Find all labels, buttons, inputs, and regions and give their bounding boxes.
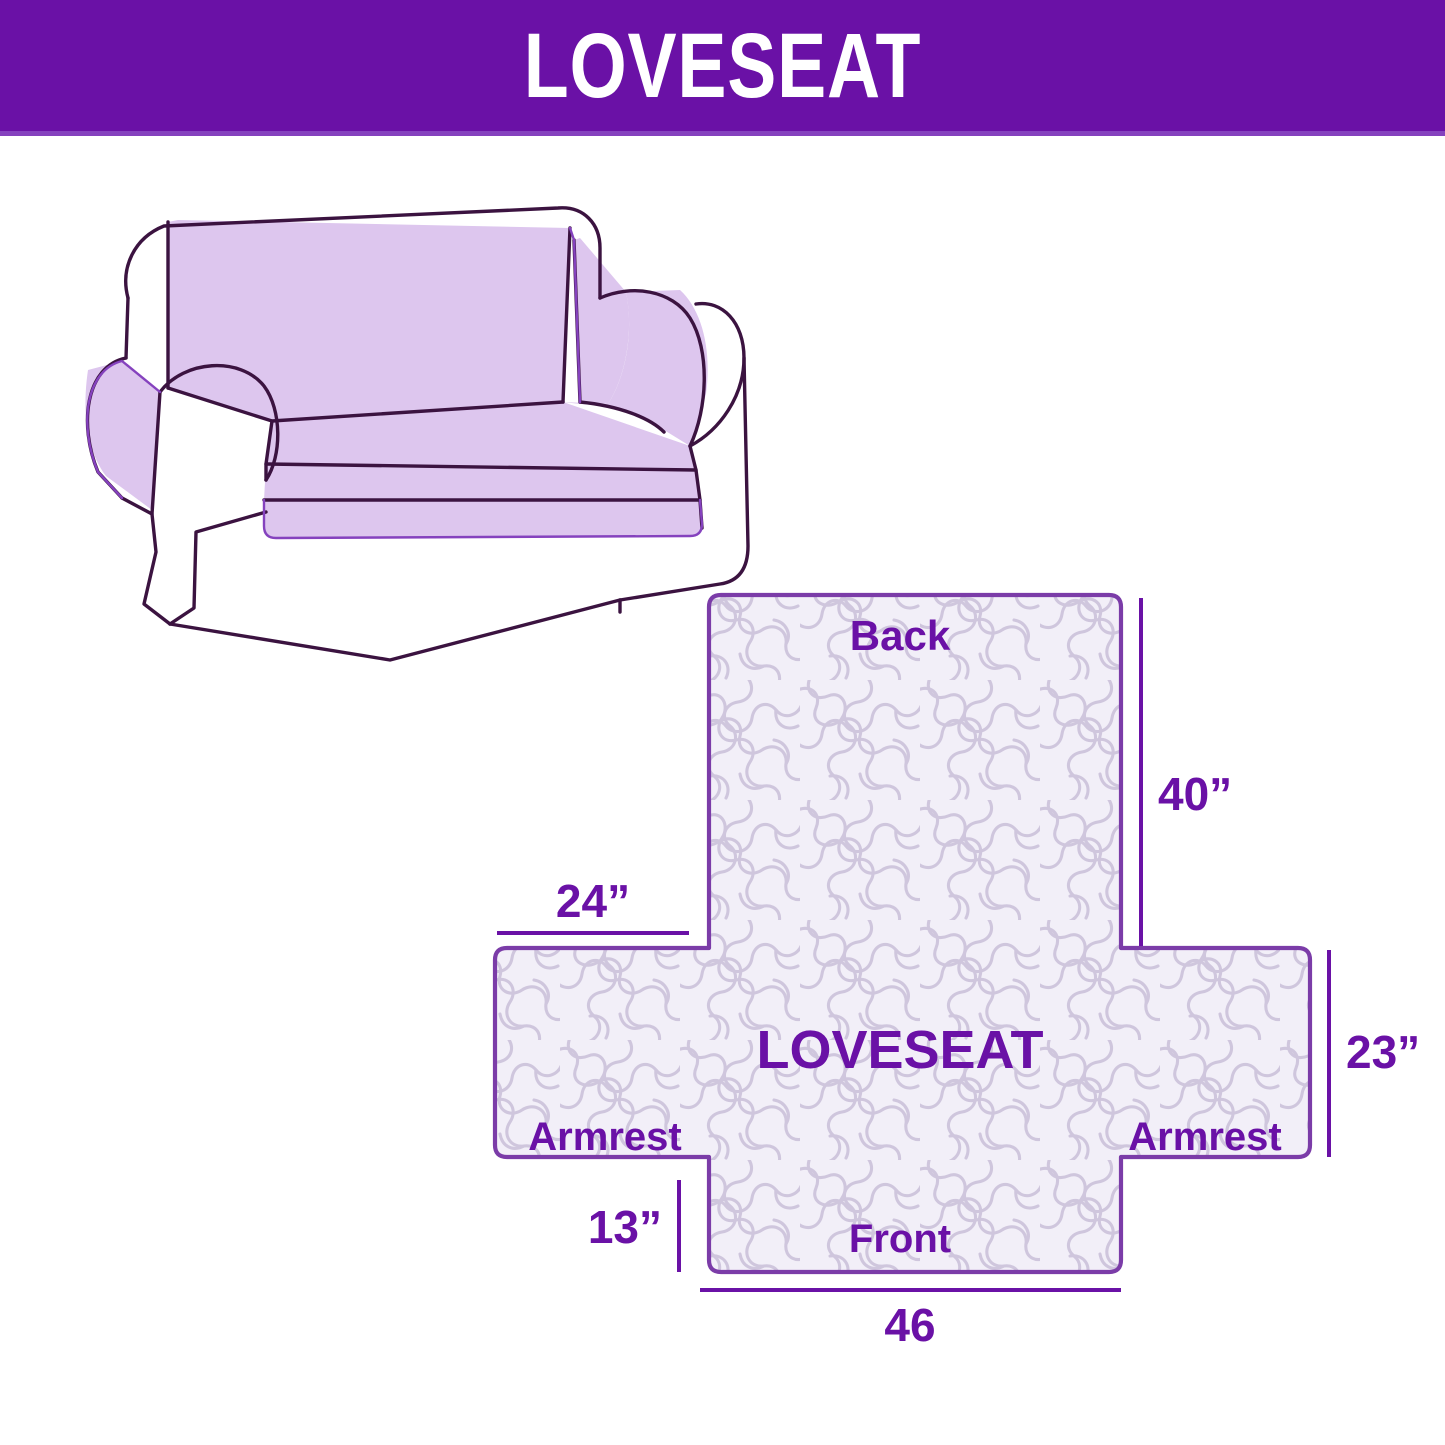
- panel-label-front: Front: [849, 1217, 951, 1261]
- flat-pattern-diagram: Back Armrest LOVESEAT Armrest Front 40” …: [440, 560, 1445, 1350]
- dimension-label-23: 23”: [1346, 1026, 1420, 1078]
- dimension-label-40: 40”: [1158, 768, 1232, 820]
- dimension-label-46: 46: [884, 1299, 935, 1351]
- dimension-total-width: 46: [700, 1290, 1121, 1351]
- dimension-label-13: 13”: [588, 1201, 662, 1253]
- header-underline-divider: [0, 131, 1445, 136]
- dimension-back-width: 24”: [497, 875, 689, 933]
- panel-label-back: Back: [850, 612, 951, 659]
- flat-pattern-svg: Back Armrest LOVESEAT Armrest Front 40” …: [440, 560, 1445, 1350]
- panel-label-armrest-left: Armrest: [528, 1115, 681, 1159]
- dimension-front-drop: 13”: [588, 1180, 679, 1272]
- page-title: LOVESEAT: [145, 0, 1301, 131]
- dimension-armrest-depth: 23”: [1329, 950, 1420, 1157]
- panel-label-center-loveseat: LOVESEAT: [756, 1020, 1043, 1080]
- sofa-fills: [85, 220, 707, 538]
- panel-label-armrest-right: Armrest: [1128, 1115, 1281, 1159]
- dimension-back-height: 40”: [1141, 598, 1232, 946]
- dimension-label-24: 24”: [556, 875, 630, 927]
